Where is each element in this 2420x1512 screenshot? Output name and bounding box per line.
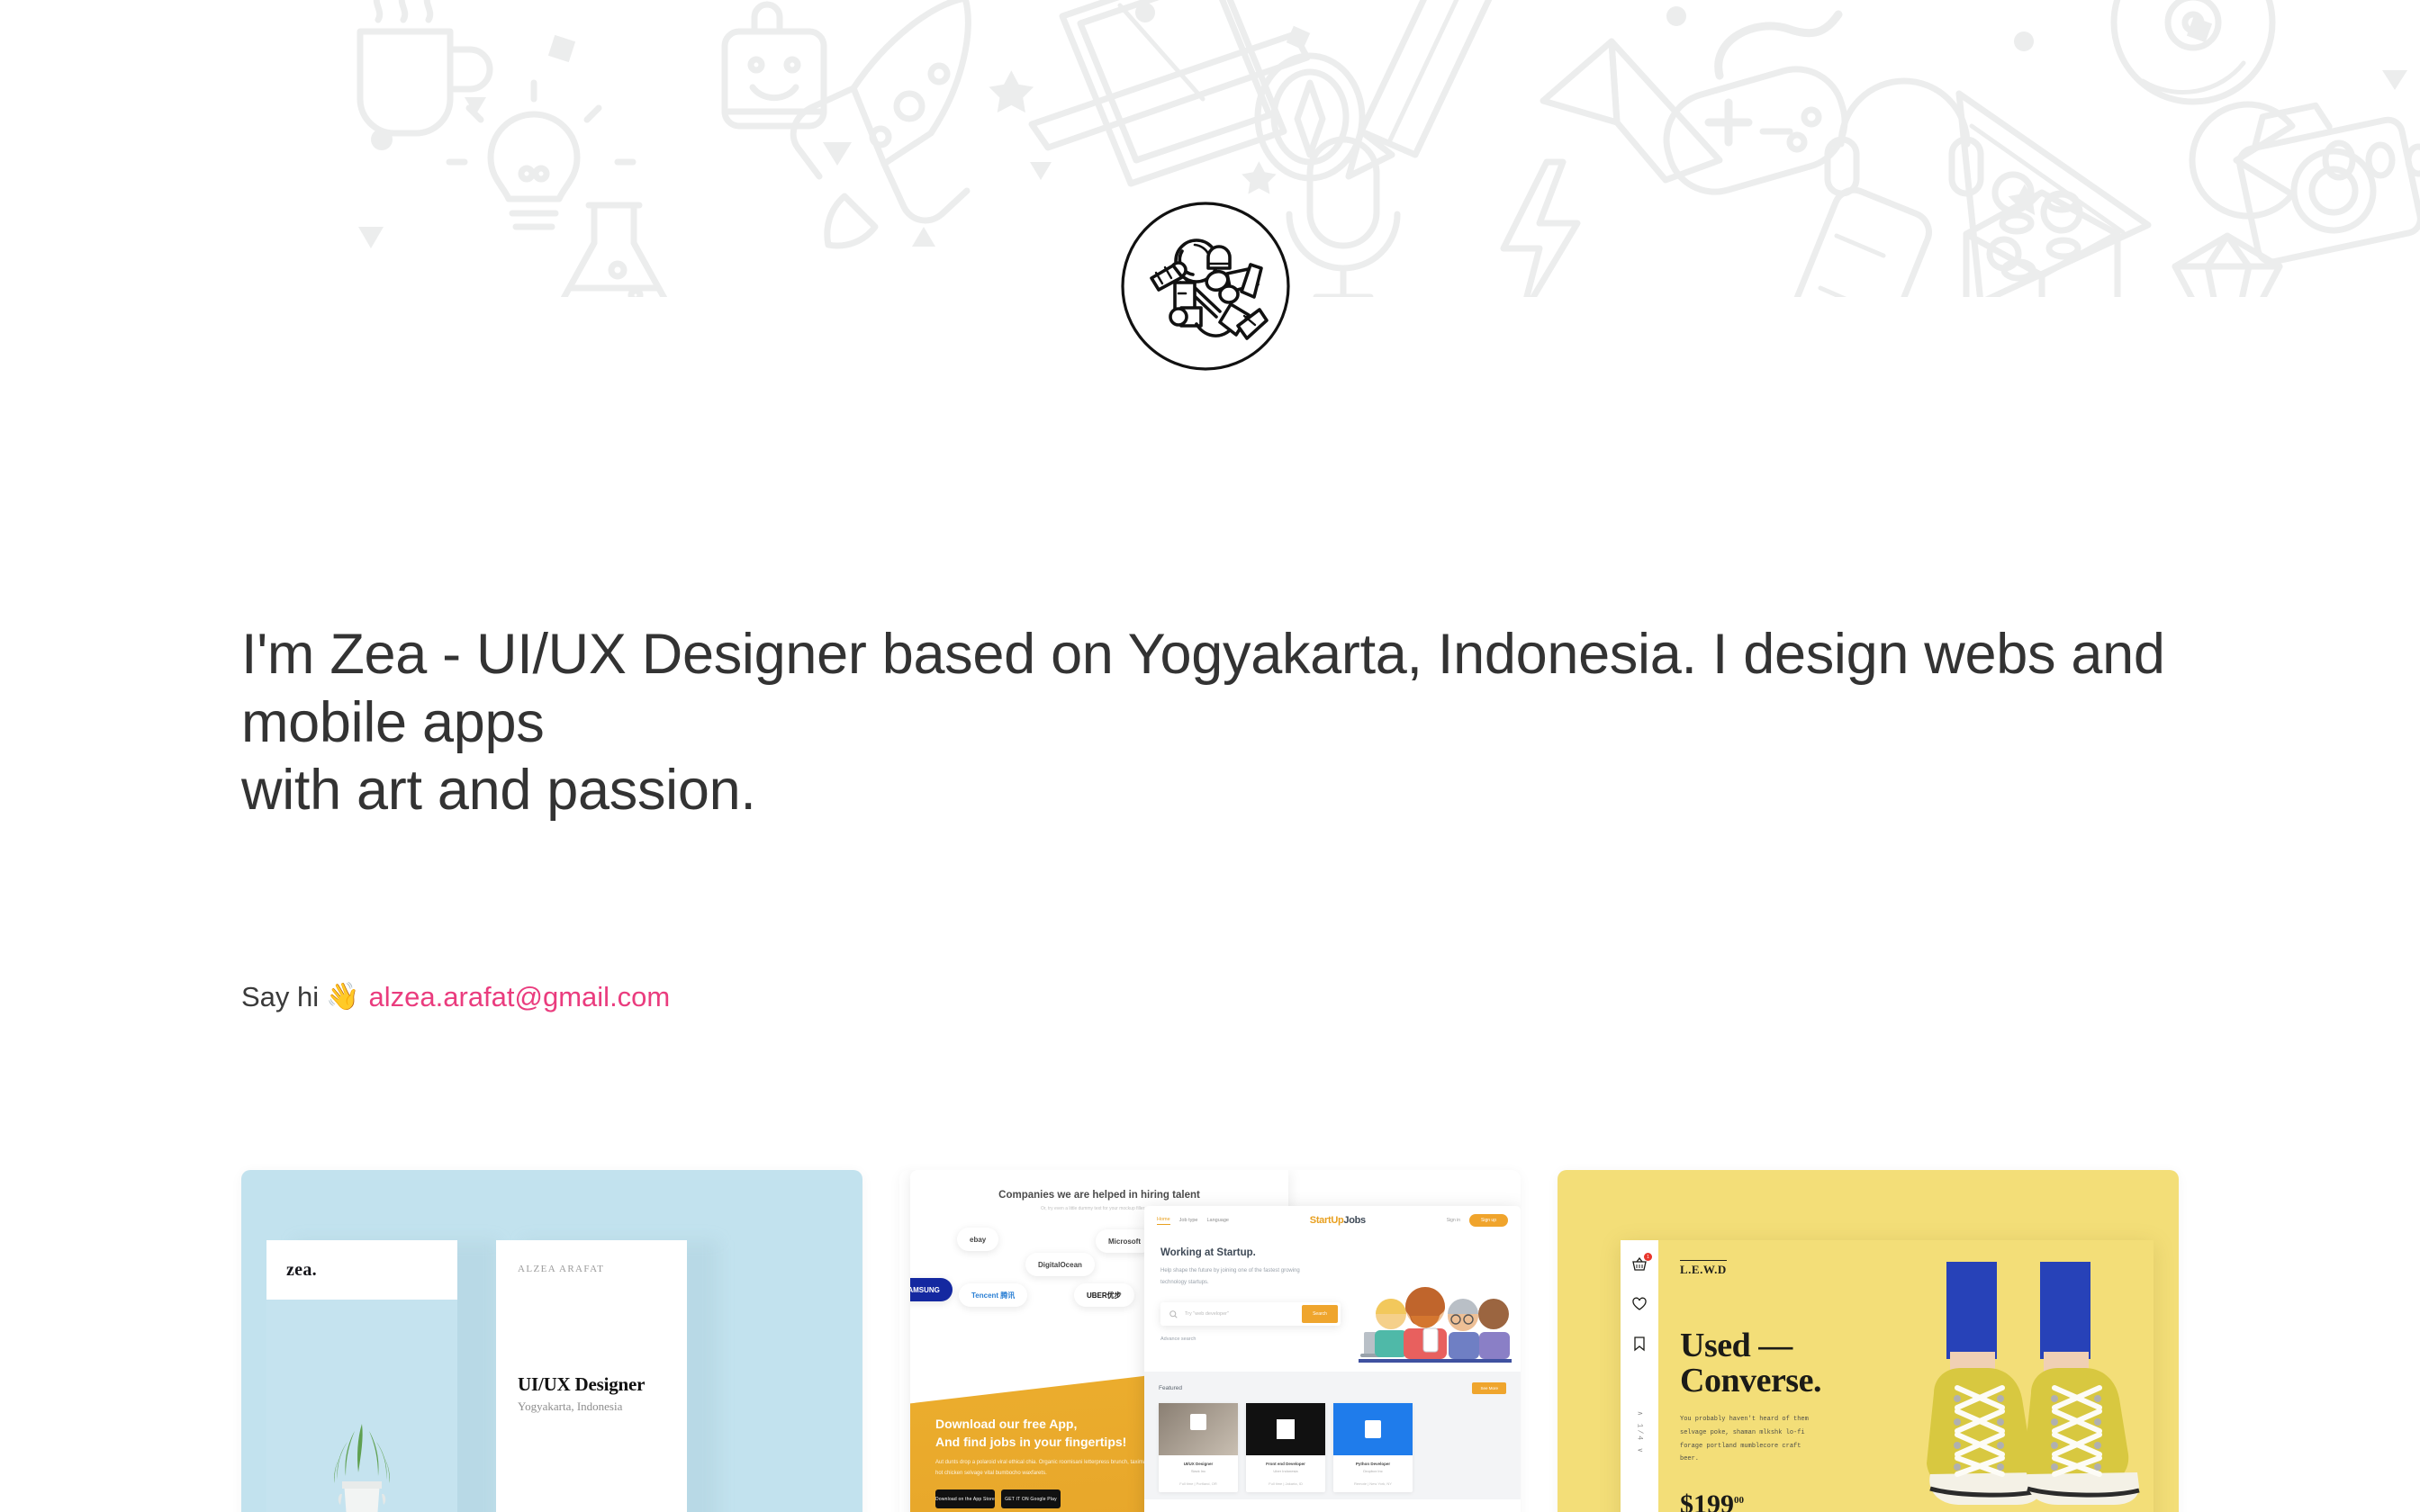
bookmark-icon[interactable] [1631, 1336, 1648, 1352]
logo-chip: SAMSUNG [910, 1278, 953, 1301]
diamond-icon [2175, 236, 2280, 297]
featured-section: Featured See More UI/UX Designer Slack I… [1144, 1372, 1521, 1499]
heart-icon[interactable] [1631, 1296, 1648, 1312]
brand-poster: zea. [266, 1240, 457, 1512]
job-meta: Full time | Portland, OR [1164, 1481, 1233, 1486]
contact-line: Say hi 👋 alzea.arafat@gmail.com [241, 979, 670, 1015]
logo-chip: ebay [957, 1228, 998, 1251]
projects-row: zea. [241, 1170, 2179, 1512]
smartphone-icon [1776, 184, 1935, 297]
product-detail: L.E.W.D Used — Converse. You probably ha… [1658, 1240, 2154, 1512]
pizza-icon [1959, 94, 2148, 297]
featured-label: Featured [1159, 1385, 1182, 1391]
card-owner-name: ALZEA ARAFAT [518, 1264, 665, 1274]
business-card: ALZEA ARAFAT UI/UX Designer Yogyakarta, … [496, 1240, 687, 1512]
basket-icon[interactable]: 1 [1631, 1256, 1648, 1273]
job-company: Slack Inc [1164, 1469, 1233, 1473]
zea-logo: zea. [286, 1260, 317, 1281]
project-card-branding[interactable]: zea. [241, 1170, 862, 1512]
nav-home[interactable]: Home [1157, 1217, 1170, 1225]
cd-disc-icon [2114, 0, 2272, 102]
job-meta: Full time | Jakarta, ID [1251, 1481, 1320, 1486]
app-store-button[interactable]: Download on the App Store [935, 1489, 995, 1508]
logo-chip: DigitalOcean [1025, 1253, 1095, 1276]
pager-value: 1/4 [1636, 1424, 1644, 1442]
site-logo: StartUpJobs [1238, 1215, 1438, 1226]
lightbulb-icon [449, 83, 633, 227]
converse-shoes-photo [1864, 1262, 2154, 1512]
jobs-hero-heading: Working at Startup. [1160, 1247, 1504, 1258]
page-title: I'm Zea - UI/UX Designer based on Yogyak… [241, 621, 2177, 825]
job-card[interactable]: UI/UX Designer Slack Inc Full time | Por… [1159, 1403, 1238, 1492]
astronaut-badge-icon[interactable] [1119, 200, 1292, 373]
coffee-mug-icon [360, 0, 490, 133]
job-meta: Remote | New York, NY [1339, 1481, 1407, 1486]
google-play-button[interactable]: GET IT ON Google Play [1001, 1489, 1061, 1508]
rocket-icon [793, 0, 968, 246]
confetti-shapes [358, 3, 2407, 248]
project-card-startupjobs[interactable]: Companies we are helped in hiring talent… [899, 1170, 1521, 1512]
shop-page-mock: 1 ∧ 1/4 ∨ [1621, 1240, 2154, 1512]
slider-pager[interactable]: ∧ 1/4 ∨ [1636, 1411, 1644, 1454]
paper-plane-icon [1543, 41, 1720, 180]
lego-brick-icon [1966, 193, 2117, 297]
jobs-page-mock: Home Job type Language StartUpJobs Sign … [1144, 1206, 1521, 1512]
portfolio-page: I'm Zea - UI/UX Designer based on Yogyak… [0, 0, 2420, 1512]
see-more-button[interactable]: See More [1472, 1382, 1506, 1394]
hero-section: I'm Zea - UI/UX Designer based on Yogyak… [241, 621, 2177, 825]
camera-icon [2237, 103, 2420, 265]
email-link[interactable]: alzea.arafat@gmail.com [369, 979, 671, 1015]
sign-up-button[interactable]: Sign up [1469, 1214, 1508, 1227]
shop-logo: L.E.W.D [1680, 1260, 1727, 1277]
download-body: Aut dunts drop a polaroid viral ethical … [935, 1458, 1178, 1479]
job-card[interactable]: Front end Developer Uber Indonesia Full … [1246, 1403, 1325, 1492]
flask-icon [555, 205, 673, 297]
job-title: Front end Developer [1251, 1462, 1320, 1466]
job-card[interactable]: Python Developer Dropbox Inc Remote | Ne… [1333, 1403, 1413, 1492]
nav-language[interactable]: Language [1206, 1218, 1228, 1223]
team-illustration-icon [1359, 1276, 1512, 1363]
product-description: You probably haven't heard of them selva… [1680, 1413, 1815, 1466]
nav-job-type[interactable]: Job type [1179, 1218, 1198, 1223]
microphone-icon [1289, 139, 1397, 297]
job-search-bar[interactable]: Try "web developer" Search [1160, 1302, 1341, 1326]
search-button[interactable]: Search [1302, 1305, 1338, 1323]
lego-head-icon [725, 4, 824, 126]
laptop-icon [1032, 0, 1307, 184]
lightning-icon [1503, 162, 1577, 297]
card-role: UI/UX Designer [518, 1373, 665, 1396]
search-input[interactable]: Try "web developer" [1185, 1311, 1302, 1317]
jobs-hero: Working at Startup. Help shape the futur… [1144, 1235, 1521, 1372]
pacman-icon [2192, 104, 2420, 216]
compass-icon [1258, 56, 1362, 178]
logo-chip: Tencent 腾讯 [959, 1283, 1027, 1307]
contact-label: Say hi [241, 979, 319, 1015]
companies-title: Companies we are helped in hiring talent [910, 1190, 1288, 1201]
cart-count-badge: 1 [1644, 1253, 1652, 1261]
project-card-lewd[interactable]: 1 ∧ 1/4 ∨ [1558, 1170, 2179, 1512]
download-heading: Download our free App, And find jobs in … [935, 1415, 1178, 1452]
jobs-hero-body: Help shape the future by joining one of … [1160, 1265, 1312, 1288]
site-nav: Home Job type Language StartUpJobs Sign … [1144, 1206, 1521, 1235]
plant-photo [315, 1408, 409, 1512]
job-company: Dropbox Inc [1339, 1469, 1407, 1473]
job-title: UI/UX Designer [1164, 1462, 1233, 1466]
pencil-icon [1349, 0, 1494, 176]
card-location: Yogyakarta, Indonesia [518, 1399, 665, 1414]
waving-hand-icon: 👋 [326, 984, 359, 1011]
sign-in-link[interactable]: Sign in [1447, 1218, 1460, 1223]
headphones-icon [1828, 81, 1981, 193]
search-icon [1169, 1310, 1178, 1318]
logo-chip: UBER优步 [1074, 1283, 1134, 1307]
gamepad-icon [1656, 14, 1856, 202]
latest-jobs-row: Latest Jobs Popular jobs [1144, 1499, 1521, 1512]
job-company: Uber Indonesia [1251, 1469, 1320, 1473]
job-title: Python Developer [1339, 1462, 1407, 1466]
shop-sidebar: 1 ∧ 1/4 ∨ [1621, 1240, 1658, 1512]
